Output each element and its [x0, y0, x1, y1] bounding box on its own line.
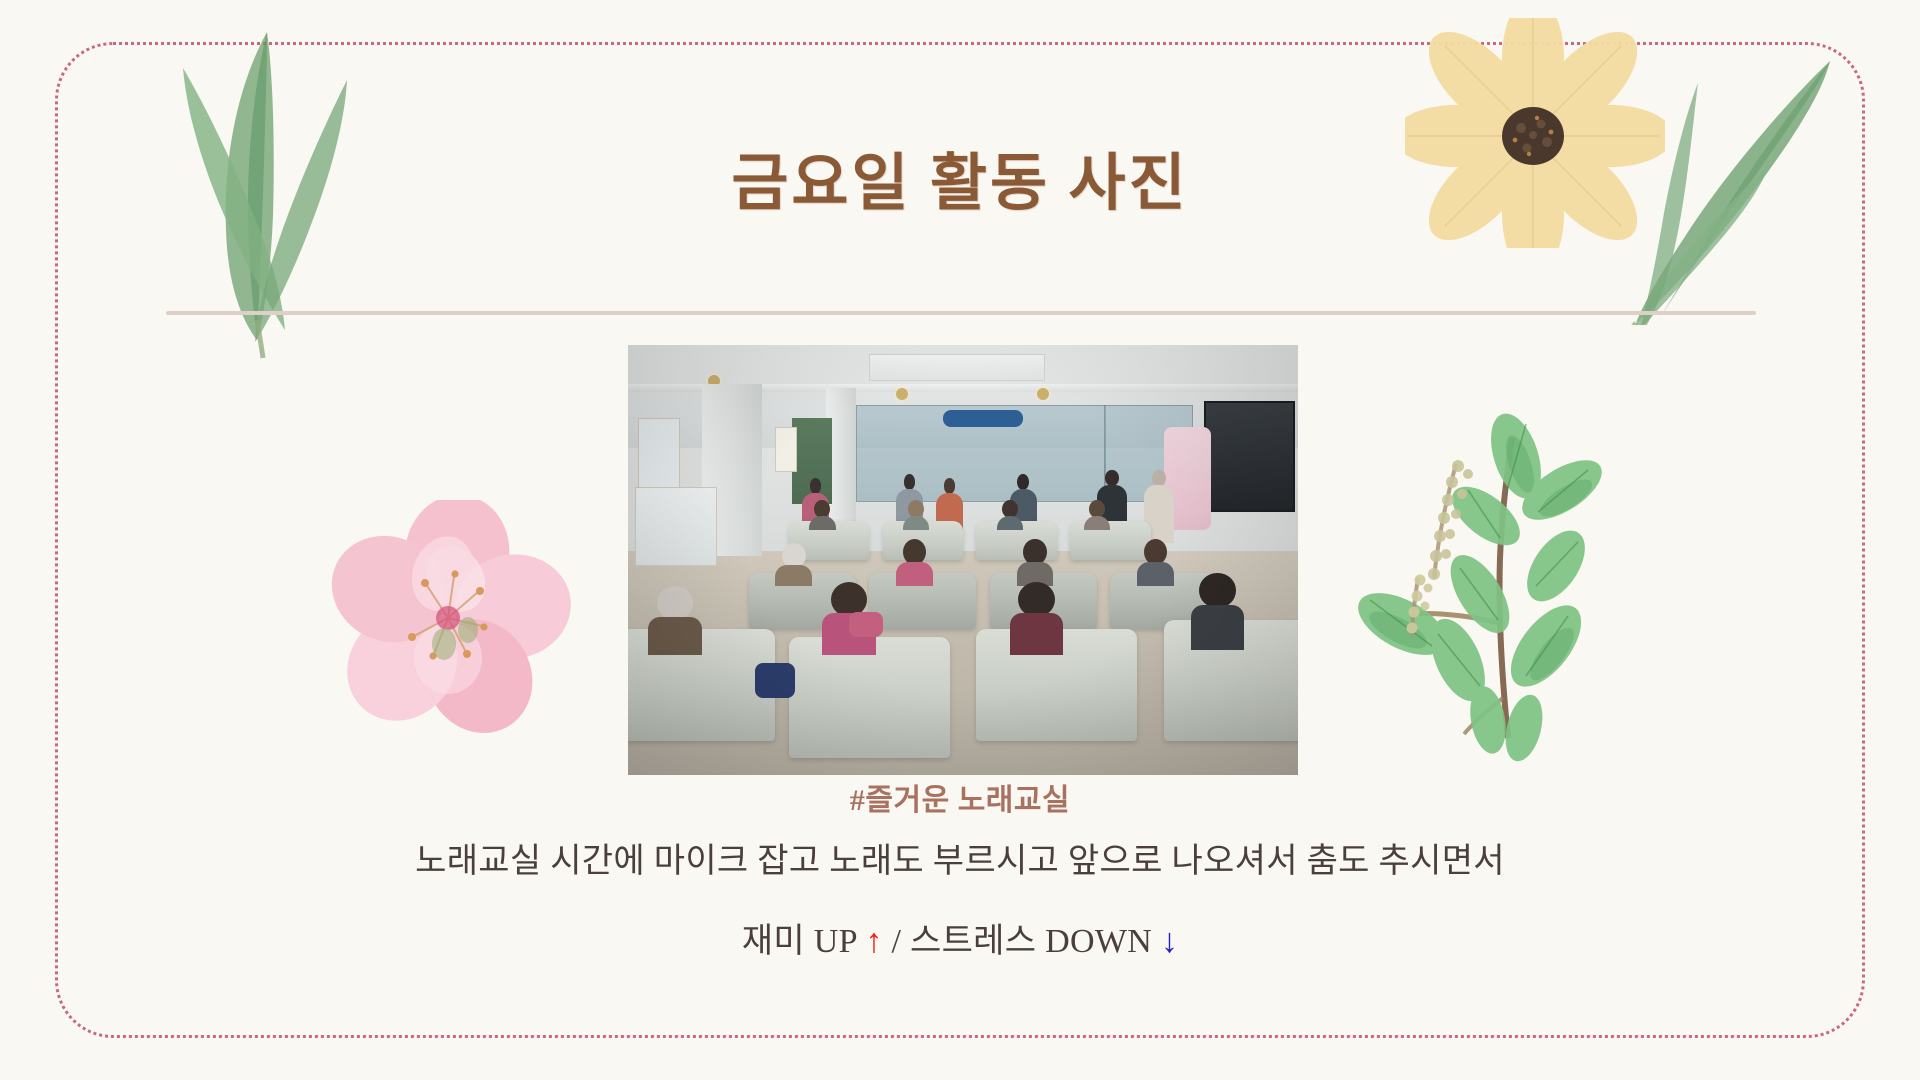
title-divider: [166, 311, 1756, 315]
green-sprig-decoration: [1340, 408, 1625, 768]
page-title: 금요일 활동 사진: [0, 150, 1920, 218]
activity-photo-image: [628, 345, 1298, 775]
page-canvas: 금요일 활동 사진: [0, 0, 1920, 1080]
body-line2-middle: / 스트레스 DOWN: [883, 923, 1161, 960]
pink-blossom-decoration: [310, 500, 585, 735]
body-line2-prefix: 재미 UP: [742, 923, 866, 960]
body-text-line-1: 노래교실 시간에 마이크 잡고 노래도 부르시고 앞으로 나오셔서 춤도 추시면…: [0, 833, 1920, 882]
arrow-up-icon: ↑: [865, 923, 882, 960]
photo-vignette: [628, 345, 1298, 775]
arrow-down-icon: ↓: [1161, 923, 1178, 960]
activity-photo: [628, 345, 1298, 775]
photo-caption-tag: #즐거운 노래교실: [0, 775, 1920, 819]
title-block: 금요일 활동 사진: [0, 150, 1920, 218]
body-text-line-2: 재미 UP ↑ / 스트레스 DOWN ↓: [0, 913, 1920, 962]
